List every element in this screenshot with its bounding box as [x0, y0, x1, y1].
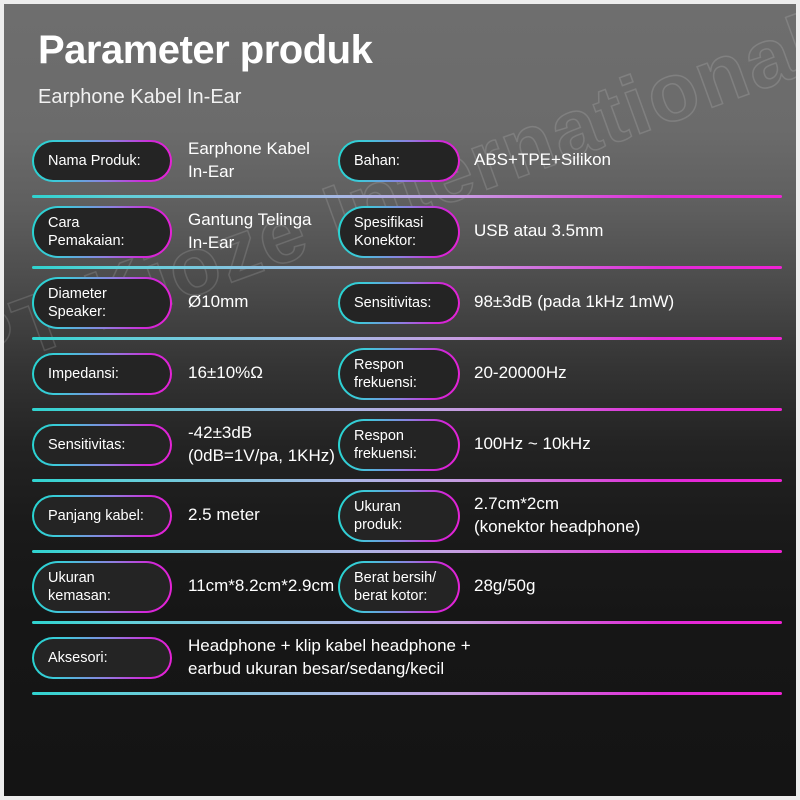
spec-cell-left: Aksesori:Headphone + klip kabel headphon…	[32, 635, 471, 681]
spec-label-pill: Diameter Speaker:	[32, 277, 172, 329]
spec-label-pill: Sensitivitas:	[32, 424, 172, 466]
spec-cell-right: Berat bersih/ berat kotor:28g/50g	[338, 561, 535, 613]
spec-value-text: 98±3dB (pada 1kHz 1mW)	[474, 291, 674, 314]
spec-label-text: Ukuran kemasan:	[48, 569, 156, 605]
spec-row-body: Cara Pemakaian:Gantung Telinga In-EarSpe…	[32, 198, 796, 266]
spec-label-pill: Panjang kabel:	[32, 495, 172, 537]
spec-row-body: Ukuran kemasan:11cm*8.2cm*2.9cmBerat ber…	[32, 553, 796, 621]
spec-label-pill: Berat bersih/ berat kotor:	[338, 561, 460, 613]
spec-value-text: Ø10mm	[188, 291, 338, 314]
product-parameter-card: PT Kioze International Trade Parameter p…	[0, 0, 800, 800]
spec-label-text: Respon frekuensi:	[354, 356, 417, 392]
spec-row: Sensitivitas:-42±3dB (0dB=1V/pa, 1KHz)Re…	[4, 411, 796, 479]
spec-cell-left: Panjang kabel:2.5 meter	[32, 495, 338, 537]
spec-cell-left: Sensitivitas:-42±3dB (0dB=1V/pa, 1KHz)	[32, 422, 338, 468]
page-subtitle: Earphone Kabel In-Ear	[38, 85, 796, 109]
spec-row-body: Impedansi:16±10%ΩRespon frekuensi:20-200…	[32, 340, 796, 408]
spec-list: Nama Produk:Earphone Kabel In-EarBahan:A…	[4, 127, 796, 695]
spec-value-text: 28g/50g	[474, 575, 535, 598]
spec-label-text: Panjang kabel:	[48, 507, 144, 525]
spec-value-text: -42±3dB (0dB=1V/pa, 1KHz)	[188, 422, 338, 468]
spec-row-body: Sensitivitas:-42±3dB (0dB=1V/pa, 1KHz)Re…	[32, 411, 796, 479]
spec-value-text: 2.7cm*2cm (konektor headphone)	[474, 493, 640, 539]
spec-label-pill: Bahan:	[338, 140, 460, 182]
spec-label-text: Ukuran produk:	[354, 498, 444, 534]
spec-value-text: 100Hz ~ 10kHz	[474, 433, 591, 456]
spec-label-pill: Spesifikasi Konektor:	[338, 206, 460, 258]
spec-row: Aksesori:Headphone + klip kabel headphon…	[4, 624, 796, 692]
spec-cell-right: Ukuran produk:2.7cm*2cm (konektor headph…	[338, 490, 640, 542]
spec-value-text: ABS+TPE+Silikon	[474, 149, 611, 172]
spec-cell-left: Impedansi:16±10%Ω	[32, 353, 338, 395]
spec-label-pill: Impedansi:	[32, 353, 172, 395]
spec-label-text: Bahan:	[354, 152, 400, 170]
spec-value-text: 2.5 meter	[188, 504, 338, 527]
spec-value-text: 11cm*8.2cm*2.9cm	[188, 575, 338, 598]
spec-row-body: Panjang kabel:2.5 meterUkuran produk:2.7…	[32, 482, 796, 550]
spec-value-text: 16±10%Ω	[188, 362, 338, 385]
spec-value-text: Headphone + klip kabel headphone + earbu…	[188, 635, 471, 681]
spec-cell-left: Cara Pemakaian:Gantung Telinga In-Ear	[32, 206, 338, 258]
card-header: Parameter produk Earphone Kabel In-Ear	[4, 4, 796, 109]
spec-label-text: Sensitivitas:	[354, 294, 431, 312]
spec-cell-left: Ukuran kemasan:11cm*8.2cm*2.9cm	[32, 561, 338, 613]
spec-label-pill: Sensitivitas:	[338, 282, 460, 324]
page-title: Parameter produk	[38, 28, 796, 73]
spec-row: Ukuran kemasan:11cm*8.2cm*2.9cmBerat ber…	[4, 553, 796, 621]
spec-label-text: Aksesori:	[48, 649, 108, 667]
spec-value-text: Gantung Telinga In-Ear	[188, 209, 338, 255]
spec-cell-left: Nama Produk:Earphone Kabel In-Ear	[32, 138, 338, 184]
spec-value-text: 20-20000Hz	[474, 362, 567, 385]
spec-label-text: Impedansi:	[48, 365, 119, 383]
spec-cell-right: Respon frekuensi:20-20000Hz	[338, 348, 567, 400]
spec-label-text: Diameter Speaker:	[48, 285, 156, 321]
spec-label-text: Spesifikasi Konektor:	[354, 214, 423, 250]
spec-value-text: USB atau 3.5mm	[474, 220, 603, 243]
spec-row: Panjang kabel:2.5 meterUkuran produk:2.7…	[4, 482, 796, 550]
spec-label-text: Respon frekuensi:	[354, 427, 417, 463]
spec-cell-right: Respon frekuensi:100Hz ~ 10kHz	[338, 419, 591, 471]
spec-row: Nama Produk:Earphone Kabel In-EarBahan:A…	[4, 127, 796, 195]
spec-row: Diameter Speaker:Ø10mmSensitivitas:98±3d…	[4, 269, 796, 337]
spec-cell-right: Sensitivitas:98±3dB (pada 1kHz 1mW)	[338, 282, 674, 324]
spec-label-pill: Respon frekuensi:	[338, 419, 460, 471]
spec-row-body: Diameter Speaker:Ø10mmSensitivitas:98±3d…	[32, 269, 796, 337]
spec-value-text: Earphone Kabel In-Ear	[188, 138, 338, 184]
spec-label-pill: Respon frekuensi:	[338, 348, 460, 400]
spec-row-body: Aksesori:Headphone + klip kabel headphon…	[32, 624, 796, 692]
spec-cell-right: Spesifikasi Konektor:USB atau 3.5mm	[338, 206, 603, 258]
spec-cell-right: Bahan:ABS+TPE+Silikon	[338, 140, 611, 182]
spec-label-text: Nama Produk:	[48, 152, 141, 170]
spec-cell-left: Diameter Speaker:Ø10mm	[32, 277, 338, 329]
spec-row-body: Nama Produk:Earphone Kabel In-EarBahan:A…	[32, 127, 796, 195]
spec-label-pill: Nama Produk:	[32, 140, 172, 182]
spec-label-pill: Aksesori:	[32, 637, 172, 679]
spec-row: Cara Pemakaian:Gantung Telinga In-EarSpe…	[4, 198, 796, 266]
spec-label-text: Sensitivitas:	[48, 436, 125, 454]
row-divider	[32, 692, 782, 695]
spec-label-pill: Ukuran kemasan:	[32, 561, 172, 613]
spec-label-pill: Cara Pemakaian:	[32, 206, 172, 258]
spec-label-text: Cara Pemakaian:	[48, 214, 156, 250]
spec-label-text: Berat bersih/ berat kotor:	[354, 569, 436, 605]
spec-row: Impedansi:16±10%ΩRespon frekuensi:20-200…	[4, 340, 796, 408]
spec-label-pill: Ukuran produk:	[338, 490, 460, 542]
